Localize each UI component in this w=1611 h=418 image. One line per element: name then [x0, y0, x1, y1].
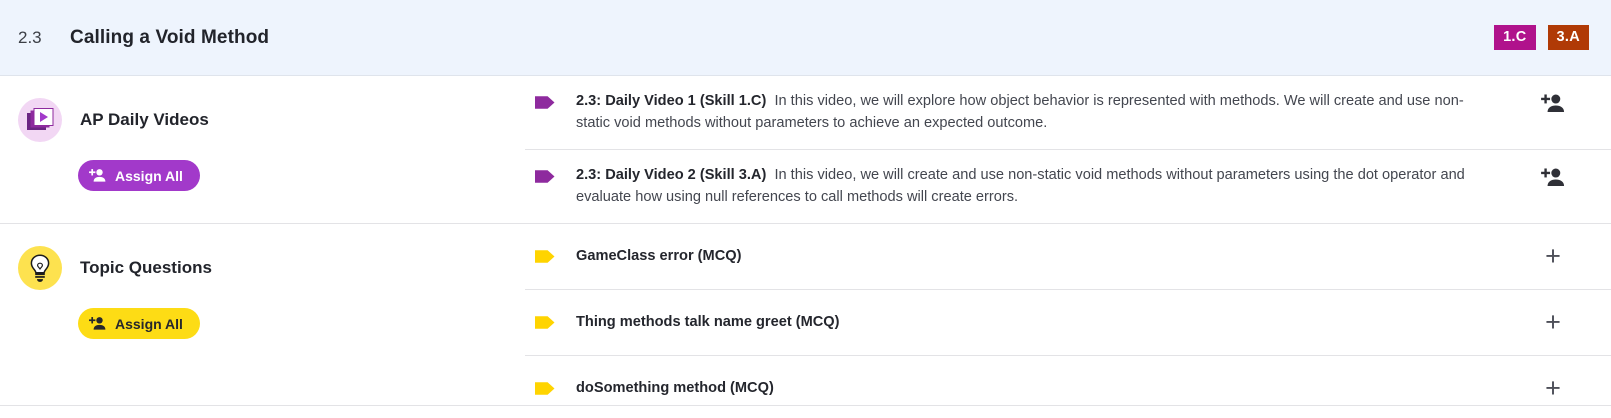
video-tag-icon [535, 169, 555, 184]
video-row-title: 2.3: Daily Video 1 (Skill 1.C) [576, 93, 766, 109]
video-row-text: 2.3: Daily Video 1 (Skill 1.C) In this v… [576, 91, 1511, 134]
assign-all-videos-label: Assign All [115, 168, 183, 184]
section-ap-daily-videos-left: AP Daily Videos Assign All [0, 76, 525, 213]
lightbulb-icon [18, 246, 62, 290]
question-row-title: doSomething method (MCQ) [576, 378, 1511, 400]
table-row[interactable]: 2.3: Daily Video 1 (Skill 1.C) In this v… [525, 76, 1611, 149]
question-row-title: Thing methods talk name greet (MCQ) [576, 312, 1511, 334]
skill-badge-3a[interactable]: 3.A [1548, 25, 1589, 50]
topic-header: 2.3 Calling a Void Method 1.C 3.A [0, 0, 1611, 76]
section-topic-questions-label: Topic Questions [80, 258, 212, 278]
section-topic-questions-left: Topic Questions Assign All [0, 224, 525, 361]
section-ap-daily-videos: AP Daily Videos Assign All [0, 76, 1611, 223]
section-ap-daily-videos-head: AP Daily Videos [18, 98, 525, 142]
assign-all-questions-label: Assign All [115, 316, 183, 332]
section-ap-daily-videos-rows: 2.3: Daily Video 1 (Skill 1.C) In this v… [525, 76, 1611, 223]
assign-all-videos-button[interactable]: Assign All [78, 160, 200, 191]
page-title: Calling a Void Method [70, 27, 269, 49]
skill-badge-1c[interactable]: 1.C [1494, 25, 1535, 50]
skill-badge-group: 1.C 3.A [1494, 25, 1589, 50]
question-tag-icon [535, 381, 555, 396]
section-topic-questions: Topic Questions Assign All Ga [0, 223, 1611, 418]
section-topic-questions-head: Topic Questions [18, 246, 525, 290]
table-row[interactable]: doSomething method (MCQ) + [525, 355, 1611, 418]
question-tag-icon [535, 315, 555, 330]
person-add-icon [1541, 167, 1565, 188]
topic-number: 2.3 [18, 28, 70, 48]
assign-video-1-button[interactable] [1511, 91, 1595, 114]
assign-question-3-button[interactable]: + [1511, 375, 1595, 402]
assign-video-2-button[interactable] [1511, 165, 1595, 188]
section-ap-daily-videos-label: AP Daily Videos [80, 110, 209, 130]
question-tag-icon [535, 249, 555, 264]
video-tag-icon [535, 95, 555, 110]
video-row-title: 2.3: Daily Video 2 (Skill 3.A) [576, 167, 766, 183]
table-row[interactable]: 2.3: Daily Video 2 (Skill 3.A) In this v… [525, 149, 1611, 223]
plus-icon: + [1545, 309, 1561, 336]
video-row-text: 2.3: Daily Video 2 (Skill 3.A) In this v… [576, 165, 1511, 208]
person-add-icon [89, 168, 106, 183]
table-row[interactable]: GameClass error (MCQ) + [525, 224, 1611, 289]
plus-icon: + [1545, 243, 1561, 270]
assign-all-questions-button[interactable]: Assign All [78, 308, 200, 339]
person-add-icon [1541, 93, 1565, 114]
table-row[interactable]: Thing methods talk name greet (MCQ) + [525, 289, 1611, 355]
assign-question-2-button[interactable]: + [1511, 309, 1595, 336]
bottom-divider [0, 405, 1611, 406]
plus-icon: + [1545, 375, 1561, 402]
video-play-icon [18, 98, 62, 142]
assign-question-1-button[interactable]: + [1511, 243, 1595, 270]
section-topic-questions-rows: GameClass error (MCQ) + Thing methods ta… [525, 224, 1611, 418]
question-row-title: GameClass error (MCQ) [576, 246, 1511, 268]
person-add-icon [89, 316, 106, 331]
course-topic-panel: 2.3 Calling a Void Method 1.C 3.A AP Dai… [0, 0, 1611, 418]
